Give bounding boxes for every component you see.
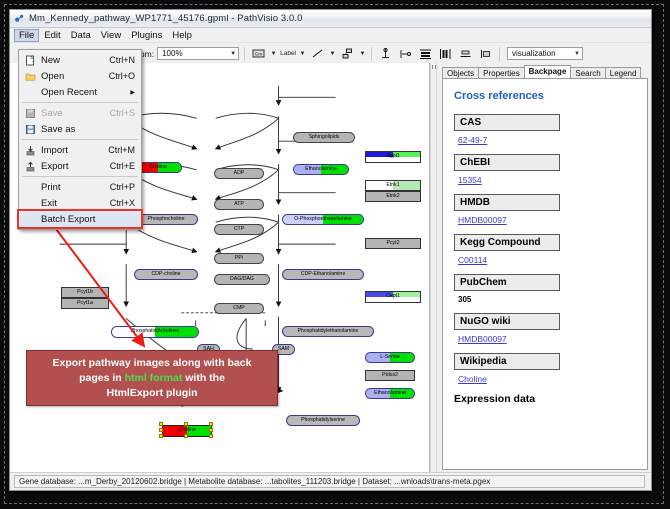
cross-reference-link[interactable]: HMDB00097 bbox=[458, 334, 637, 344]
pathway-node[interactable]: Ptdss2 bbox=[365, 370, 415, 381]
pathway-node-label: CDP-choline bbox=[151, 272, 180, 277]
menu-file[interactable]: File bbox=[14, 29, 39, 42]
annotation-line-3: HtmlExport plugin bbox=[53, 386, 252, 401]
export-icon bbox=[19, 161, 41, 172]
pathway-node-label: L-Serine bbox=[380, 355, 400, 360]
chevron-down-icon: ▼ bbox=[230, 51, 236, 57]
side-panel: Objects Properties Backpage Search Legen… bbox=[437, 63, 651, 473]
menu-help[interactable]: Help bbox=[167, 29, 197, 42]
pathway-node[interactable]: CMP bbox=[214, 303, 264, 314]
pathway-node-label: Phosphatidylethanolamine bbox=[298, 329, 359, 334]
pathway-node-label: ADP bbox=[234, 171, 245, 176]
cross-reference-list: CAS62-49-7ChEBI15354HMDBHMDB00097Kegg Co… bbox=[454, 114, 637, 384]
pathway-node[interactable]: CDP-choline bbox=[134, 269, 198, 280]
svg-text:Gm: Gm bbox=[255, 52, 263, 57]
align-columns-button[interactable] bbox=[437, 45, 454, 62]
pathway-node-label: Pcyt2 bbox=[387, 241, 400, 246]
stack-button[interactable] bbox=[477, 45, 494, 62]
file-menu-label: Export bbox=[41, 161, 110, 172]
pathway-node[interactable]: CDP-Ethanolamine bbox=[282, 269, 364, 280]
selection-handle[interactable] bbox=[159, 428, 163, 432]
file-menu-label: Save as bbox=[41, 124, 135, 135]
file-menu-label: Open bbox=[41, 71, 109, 82]
visualization-combo[interactable]: visualization ▼ bbox=[507, 47, 583, 60]
cross-reference-link[interactable]: Choline bbox=[458, 374, 637, 384]
file-menu-accelerator: Ctrl+O bbox=[109, 71, 141, 81]
datanode-dropdown-caret[interactable]: ▼ bbox=[270, 51, 277, 57]
pathway-node[interactable]: PPi bbox=[214, 253, 264, 264]
pathway-node[interactable]: Sphingolipids bbox=[293, 132, 355, 143]
import-icon bbox=[19, 145, 41, 156]
pathway-node[interactable]: Phosphatidylserine bbox=[286, 415, 360, 426]
menu-bar: File Edit Data View Plugins Help bbox=[10, 28, 651, 43]
cross-reference-source: NuGO wiki bbox=[454, 313, 560, 330]
pathway-node[interactable]: Ethanolamine bbox=[365, 388, 415, 399]
cross-reference-link[interactable]: 62-49-7 bbox=[458, 135, 637, 145]
toolbar-divider bbox=[244, 47, 245, 61]
pathway-node-label: Ptdss2 bbox=[382, 373, 398, 378]
file-menu-item-batch-export[interactable]: Batch Export bbox=[19, 211, 141, 227]
selection-handle[interactable] bbox=[159, 434, 163, 438]
pathway-node-label: ATP bbox=[234, 202, 244, 207]
screen-root: Mm_Kennedy_pathway_WP1771_45176.gpml - P… bbox=[0, 0, 670, 509]
zoom-value: 100% bbox=[162, 49, 182, 58]
pathway-node[interactable]: Pcyt2 bbox=[365, 238, 421, 249]
pathway-node-label: Etnk1 bbox=[386, 183, 399, 188]
selection-handle[interactable] bbox=[209, 422, 213, 426]
cross-reference-value: 305 bbox=[458, 295, 637, 304]
annotation-line-2b: with the bbox=[182, 372, 225, 384]
pathway-node-label: CMP bbox=[233, 306, 245, 311]
pathvisio-window: Mm_Kennedy_pathway_WP1771_45176.gpml - P… bbox=[9, 9, 652, 491]
align-left-button[interactable] bbox=[397, 45, 414, 62]
cross-reference-entry: CAS62-49-7 bbox=[454, 114, 637, 145]
status-bar: Gene database: ...m_Derby_20120602.bridg… bbox=[10, 472, 651, 490]
pathway-node[interactable]: Pcyt1a bbox=[61, 298, 109, 309]
pathway-node[interactable]: Pcyt1b bbox=[61, 287, 109, 298]
pathway-node-label: Phosphocholine bbox=[148, 217, 185, 222]
pathway-node-label: Ethanolamine bbox=[305, 167, 337, 172]
file-menu-accelerator: Ctrl+E bbox=[110, 161, 141, 171]
pathway-node[interactable]: Cept1 bbox=[365, 291, 421, 303]
pathway-node-label: Choline bbox=[149, 165, 167, 170]
file-menu-label: New bbox=[41, 55, 109, 66]
cross-reference-entry: Kegg CompoundC00114 bbox=[454, 234, 637, 265]
cross-reference-source: HMDB bbox=[454, 194, 560, 211]
shape-tool-button[interactable] bbox=[339, 45, 356, 62]
selection-handle[interactable] bbox=[159, 422, 163, 426]
zoom-combo[interactable]: 100% ▼ bbox=[157, 47, 239, 60]
file-menu-label: Open Recent bbox=[41, 87, 130, 98]
pathway-node[interactable]: Phosphatidylethanolamine bbox=[282, 326, 374, 337]
file-menu-label: Exit bbox=[41, 198, 110, 209]
pathway-node[interactable]: L-Serine bbox=[365, 352, 415, 363]
cross-reference-link[interactable]: HMDB00097 bbox=[458, 215, 637, 225]
selection-handle[interactable] bbox=[209, 428, 213, 432]
menu-plugins[interactable]: Plugins bbox=[126, 29, 167, 42]
backpage-panel[interactable]: Cross references CAS62-49-7ChEBI15354HMD… bbox=[442, 78, 648, 470]
pathway-node[interactable]: ADP bbox=[214, 168, 264, 179]
shape-dropdown-caret[interactable]: ▼ bbox=[359, 51, 366, 57]
pathway-node-label: PPi bbox=[235, 256, 243, 261]
pathway-node-label: Cept1 bbox=[386, 294, 400, 299]
save-icon bbox=[19, 108, 41, 119]
cross-reference-link[interactable]: 15354 bbox=[458, 175, 637, 185]
pathway-node-label: SAM bbox=[278, 347, 289, 352]
pathway-node[interactable]: ATP bbox=[214, 199, 264, 210]
new-file-icon bbox=[19, 55, 41, 66]
file-menu-item-save-as[interactable]: Save as bbox=[19, 121, 141, 137]
line-dropdown-caret[interactable]: ▼ bbox=[329, 51, 336, 57]
pathway-node-label: DAG/DAG bbox=[230, 277, 254, 282]
pathway-node-label: Pcyt1b bbox=[77, 290, 93, 295]
tab-search[interactable]: Search bbox=[570, 67, 605, 78]
cross-reference-source: CAS bbox=[454, 114, 560, 131]
cross-reference-entry: ChEBI15354 bbox=[454, 154, 637, 185]
file-menu-item-import[interactable]: ImportCtrl+M bbox=[19, 142, 141, 158]
cross-reference-entry: PubChem305 bbox=[454, 274, 637, 304]
align-top-button[interactable] bbox=[377, 45, 394, 62]
label-tool-button[interactable]: Label bbox=[280, 50, 296, 57]
title-bar: Mm_Kennedy_pathway_WP1771_45176.gpml - P… bbox=[10, 10, 651, 28]
cross-reference-source: PubChem bbox=[454, 274, 560, 291]
window-title: Mm_Kennedy_pathway_WP1771_45176.gpml - P… bbox=[29, 13, 303, 24]
file-menu-label: Batch Export bbox=[41, 214, 135, 225]
file-menu-item-new[interactable]: NewCtrl+N bbox=[19, 52, 141, 68]
file-menu-accelerator: Ctrl+M bbox=[108, 145, 141, 155]
file-menu-separator bbox=[22, 102, 138, 103]
tab-properties[interactable]: Properties bbox=[478, 67, 524, 78]
annotation-line-1: Export pathway images along with back bbox=[53, 356, 252, 371]
menu-edit[interactable]: Edit bbox=[39, 29, 65, 42]
pathway-node[interactable]: O-Phosphoethanolamine bbox=[282, 214, 364, 225]
expression-data-title: Expression data bbox=[454, 393, 637, 405]
tab-legend[interactable]: Legend bbox=[605, 67, 642, 78]
cross-reference-entry: HMDBHMDB00097 bbox=[454, 194, 637, 225]
cross-reference-entry: NuGO wikiHMDB00097 bbox=[454, 313, 637, 344]
pathway-node-label: Pcyt1a bbox=[77, 301, 93, 306]
pathway-node-label: Phosphatidylserine bbox=[301, 418, 345, 423]
folder-open-icon bbox=[19, 71, 41, 82]
align-rows-button[interactable] bbox=[417, 45, 434, 62]
pathway-node-label: CTP bbox=[234, 227, 244, 232]
file-menu-accelerator: Ctrl+X bbox=[110, 198, 141, 208]
file-menu-label: Print bbox=[41, 182, 110, 193]
panel-splitter[interactable] bbox=[430, 63, 437, 473]
file-menu-item-open-recent[interactable]: Open Recent▶ bbox=[19, 84, 141, 100]
pathway-node-label: Etnk2 bbox=[386, 194, 399, 199]
file-menu-item-exit[interactable]: ExitCtrl+X bbox=[19, 195, 141, 211]
annotation-html-format: html format bbox=[125, 372, 183, 384]
datanode-tool-button[interactable]: Gm bbox=[250, 45, 267, 62]
cross-references-title: Cross references bbox=[454, 90, 637, 102]
pathway-node[interactable]: DAG/DAG bbox=[214, 274, 270, 285]
tab-backpage[interactable]: Backpage bbox=[524, 65, 572, 78]
line-tool-button[interactable] bbox=[309, 45, 326, 62]
pathway-node[interactable]: CTP bbox=[214, 224, 264, 235]
pathway-node[interactable]: Etnk1 bbox=[365, 180, 421, 191]
toolbar-divider-2 bbox=[371, 47, 372, 61]
cross-reference-source: ChEBI bbox=[454, 154, 560, 171]
cross-reference-entry: WikipediaCholine bbox=[454, 353, 637, 384]
annotation-line-2a: pages in bbox=[79, 372, 125, 384]
pathway-node[interactable]: Phosphatidylcholines bbox=[111, 326, 199, 338]
selection-handle[interactable] bbox=[209, 434, 213, 438]
pathway-node-label: CDP-Ethanolamine bbox=[301, 272, 345, 277]
selection-handle[interactable] bbox=[184, 434, 188, 438]
side-panel-tabs: Objects Properties Backpage Search Legen… bbox=[437, 63, 651, 78]
pathway-node[interactable]: Etnk2 bbox=[365, 191, 421, 202]
cross-reference-source: Wikipedia bbox=[454, 353, 560, 370]
pathway-node-label: Choline bbox=[178, 428, 196, 433]
chevron-down-icon-2: ▼ bbox=[574, 51, 580, 57]
annotation-callout: Export pathway images along with back pa… bbox=[26, 350, 278, 406]
file-menu-separator bbox=[22, 139, 138, 140]
visualization-value: visualization bbox=[512, 49, 556, 58]
file-menu-accelerator: Ctrl+P bbox=[110, 182, 141, 192]
file-menu-item-save: SaveCtrl+S bbox=[19, 105, 141, 121]
file-menu-label: Import bbox=[41, 145, 108, 156]
toolbar-divider-3 bbox=[499, 47, 500, 61]
save-as-icon bbox=[19, 124, 41, 135]
pathway-node-label: Sgpl1 bbox=[386, 154, 399, 159]
submenu-arrow-icon: ▶ bbox=[130, 89, 141, 96]
pathway-node[interactable]: Ethanolamine bbox=[293, 164, 349, 175]
status-text: Gene database: ...m_Derby_20120602.bridg… bbox=[14, 475, 645, 488]
common-width-button[interactable] bbox=[457, 45, 474, 62]
selection-handle[interactable] bbox=[184, 422, 188, 426]
cross-reference-link[interactable]: C00114 bbox=[458, 255, 637, 265]
pathway-node-label: O-Phosphoethanolamine bbox=[294, 217, 351, 222]
file-menu-separator bbox=[22, 176, 138, 177]
pathway-node[interactable]: Phosphocholine bbox=[134, 214, 198, 225]
file-menu-accelerator: Ctrl+S bbox=[110, 108, 141, 118]
label-dropdown-caret[interactable]: ▼ bbox=[299, 51, 306, 57]
pathway-node-label: Phosphatidylcholines bbox=[131, 329, 180, 334]
menu-data[interactable]: Data bbox=[66, 29, 96, 42]
menu-view[interactable]: View bbox=[96, 29, 126, 42]
file-menu-item-print[interactable]: PrintCtrl+P bbox=[19, 179, 141, 195]
file-menu-label: Save bbox=[41, 108, 110, 119]
file-menu-item-export[interactable]: ExportCtrl+E bbox=[19, 158, 141, 174]
file-menu-dropdown[interactable]: NewCtrl+NOpenCtrl+OOpen Recent▶SaveCtrl+… bbox=[18, 49, 142, 230]
pathvisio-icon bbox=[14, 13, 25, 24]
file-menu-item-open[interactable]: OpenCtrl+O bbox=[19, 68, 141, 84]
tab-objects[interactable]: Objects bbox=[442, 67, 479, 78]
pathway-node-label: Ethanolamine bbox=[374, 391, 406, 396]
cross-reference-source: Kegg Compound bbox=[454, 234, 560, 251]
pathway-node[interactable]: Sgpl1 bbox=[365, 151, 421, 163]
file-menu-accelerator: Ctrl+N bbox=[109, 55, 141, 65]
pathway-node-label: Sphingolipids bbox=[309, 135, 340, 140]
